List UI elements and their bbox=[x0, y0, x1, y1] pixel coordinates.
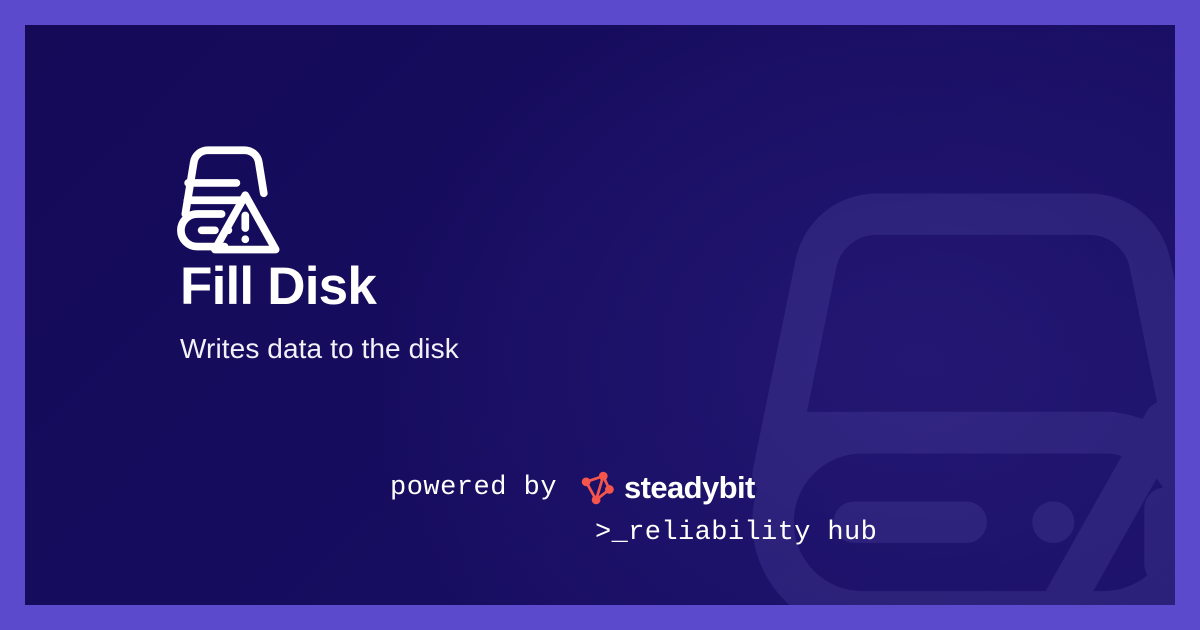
steadybit-wordmark: steadybit bbox=[624, 470, 755, 506]
powered-by-label: powered by bbox=[390, 473, 557, 503]
page-title: Fill Disk bbox=[180, 257, 820, 317]
og-card: Fill Disk Writes data to the disk powere… bbox=[0, 0, 1200, 630]
hero-text-block: Fill Disk Writes data to the disk bbox=[180, 257, 820, 367]
steadybit-network-logo-icon bbox=[579, 469, 617, 507]
steadybit-brand: steadybit bbox=[579, 469, 755, 507]
powered-by-row: powered by bbox=[180, 468, 880, 508]
tagline-row: >_reliability hub bbox=[180, 513, 880, 553]
card-background: Fill Disk Writes data to the disk powere… bbox=[25, 25, 1175, 605]
disk-warning-icon bbox=[155, 123, 303, 271]
footer: powered by bbox=[180, 468, 880, 553]
reliability-hub-tagline: >_reliability hub bbox=[595, 518, 877, 548]
page-subtitle: Writes data to the disk bbox=[180, 331, 820, 367]
